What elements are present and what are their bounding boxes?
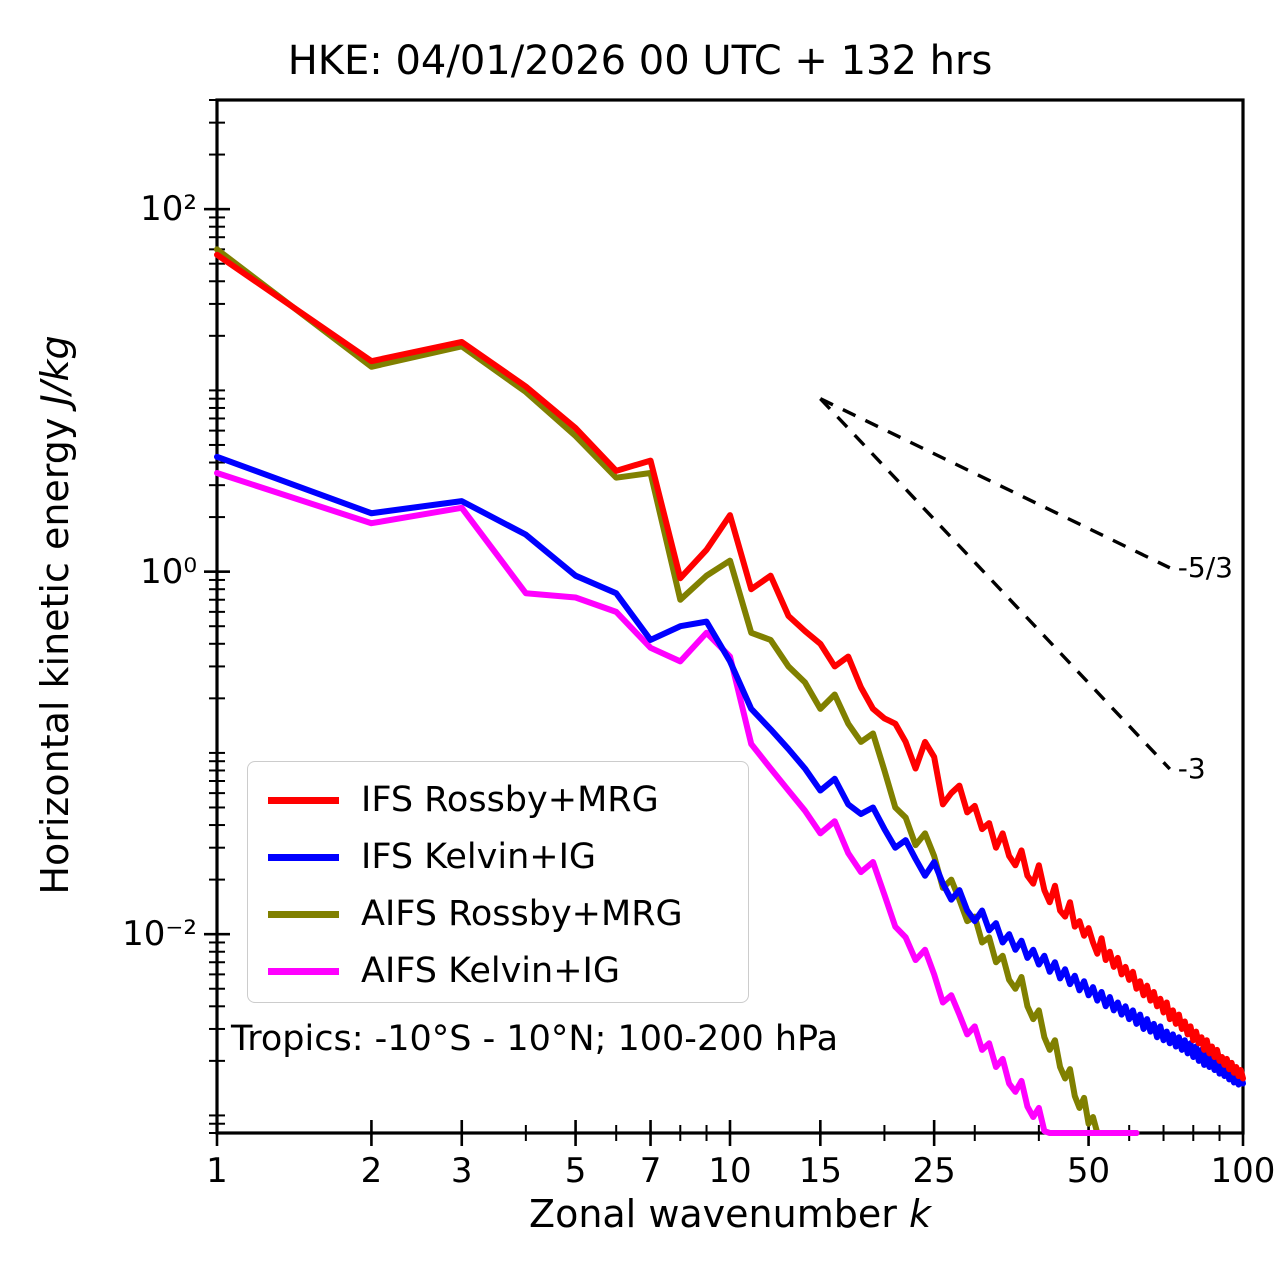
legend-item[interactable]: IFS Kelvin+IG xyxy=(248,827,748,887)
x-tick-label: 25 xyxy=(913,1151,956,1191)
reference-slope-lines xyxy=(820,399,1169,769)
y-tick-label: 10² xyxy=(40,189,197,229)
legend-item-label: AIFS Kelvin+IG xyxy=(361,951,620,991)
x-axis-label: Zonal wavenumber k xyxy=(217,1192,1243,1236)
x-tick-label: 10 xyxy=(708,1151,751,1191)
x-tick-label: 100 xyxy=(1211,1151,1276,1191)
legend-item-label: IFS Rossby+MRG xyxy=(361,780,659,820)
x-tick-label: 3 xyxy=(451,1151,473,1191)
y-tick-label: 10⁻² xyxy=(40,914,197,954)
legend-color-swatch xyxy=(268,968,339,975)
x-tick-label: 50 xyxy=(1067,1151,1110,1191)
y-tick-label: 10⁰ xyxy=(40,552,197,592)
slope-label: -5/3 xyxy=(1178,551,1233,584)
x-tick-label: 5 xyxy=(565,1151,587,1191)
legend-item[interactable]: IFS Rossby+MRG xyxy=(248,770,748,830)
legend-color-swatch xyxy=(268,854,339,861)
x-tick-label: 15 xyxy=(799,1151,842,1191)
legend-item-label: AIFS Rossby+MRG xyxy=(361,894,683,934)
x-axis-label-prefix: Zonal wavenumber xyxy=(529,1192,909,1236)
x-axis-label-symbol: k xyxy=(909,1192,931,1236)
figure-canvas: HKE: 04/01/2026 00 UTC + 132 hrs Horizon… xyxy=(0,0,1280,1288)
legend-color-swatch xyxy=(268,911,339,918)
legend-item-label: IFS Kelvin+IG xyxy=(361,837,596,877)
legend-color-swatch xyxy=(268,797,339,804)
legend-item[interactable]: AIFS Kelvin+IG xyxy=(248,941,748,1001)
x-tick-label: 7 xyxy=(640,1151,662,1191)
region-annotation: Tropics: -10°S - 10°N; 100-200 hPa xyxy=(231,1019,838,1059)
x-tick-label: 1 xyxy=(206,1151,228,1191)
slope-label: -3 xyxy=(1178,752,1206,785)
legend-item[interactable]: AIFS Rossby+MRG xyxy=(248,884,748,944)
legend: IFS Rossby+MRGIFS Kelvin+IGAIFS Rossby+M… xyxy=(247,761,749,1003)
x-tick-label: 2 xyxy=(361,1151,383,1191)
